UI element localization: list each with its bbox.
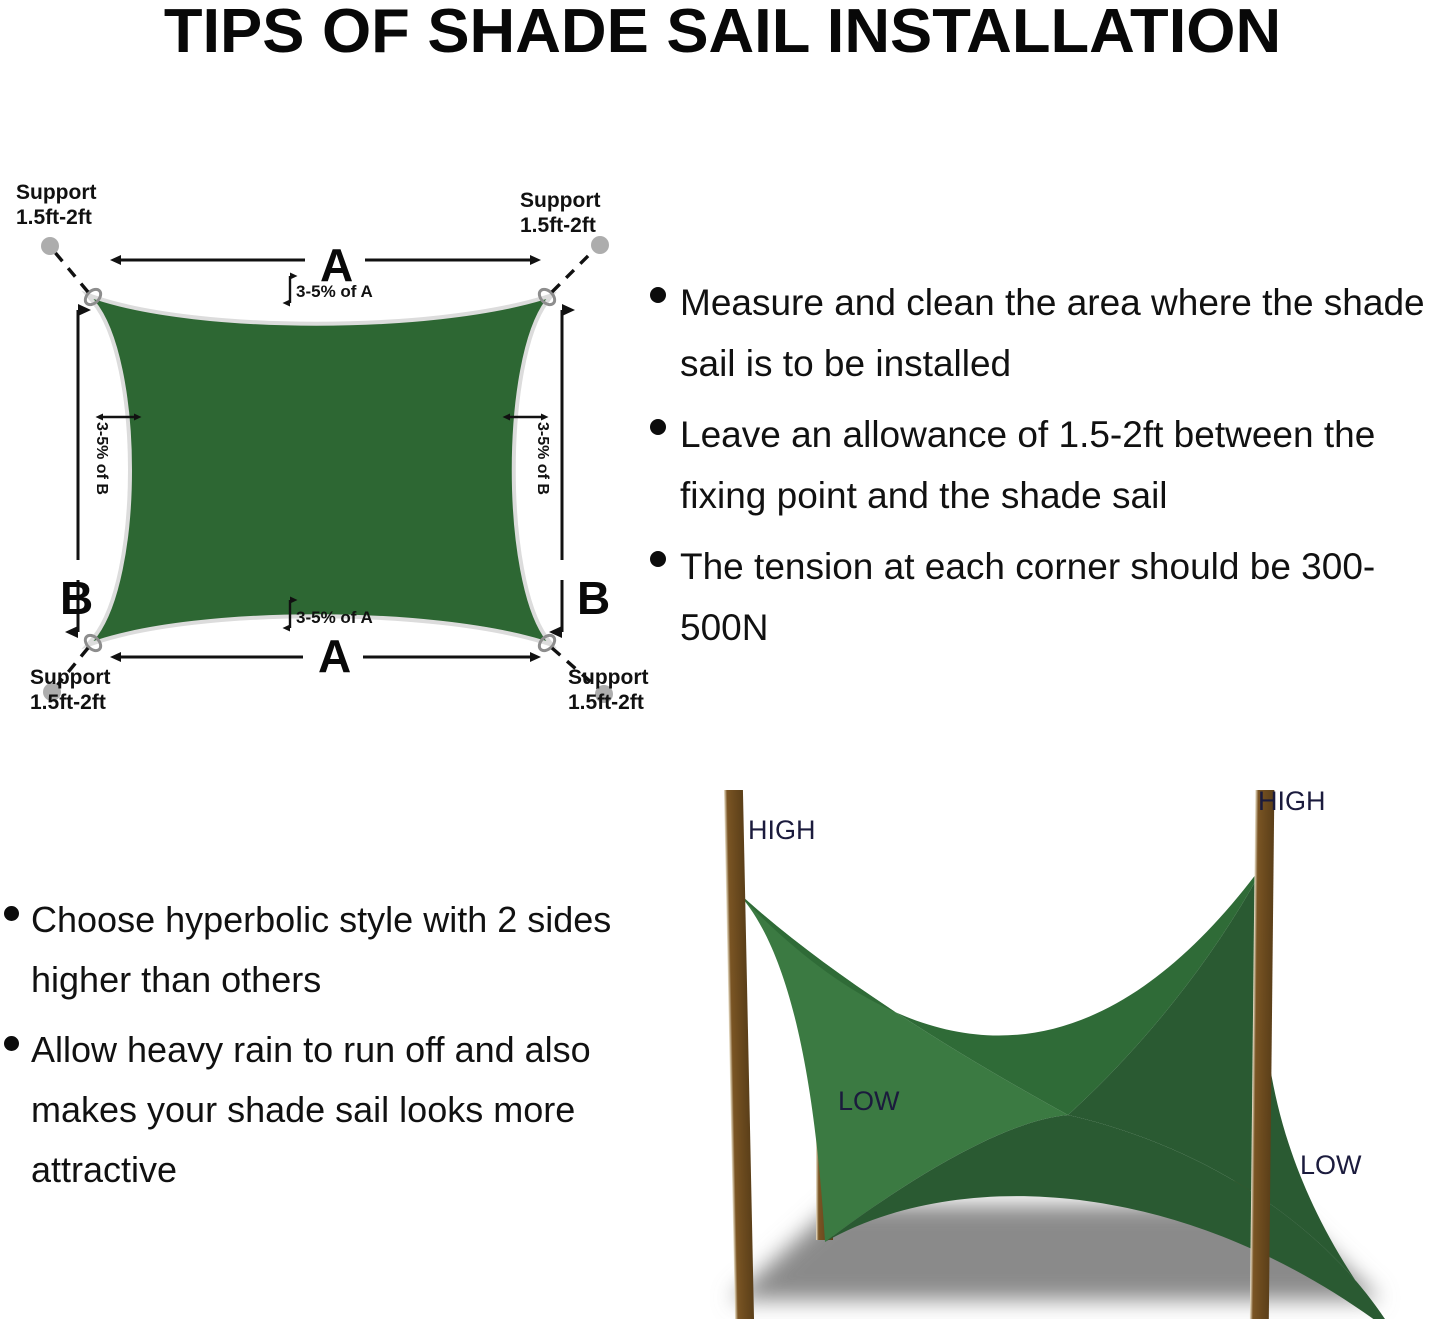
curve-allowance-right: 3-5% of B <box>533 422 551 495</box>
sail-shape-group <box>95 300 545 640</box>
list-item: Choose hyperbolic style with 2 sides hig… <box>4 890 624 1010</box>
support-label-line1: Support <box>16 180 96 205</box>
list-item-label: Measure and clean the area where the sha… <box>680 272 1445 394</box>
support-label-line2: 1.5ft-2ft <box>520 213 600 238</box>
page-title: TIPS OF SHADE SAIL INSTALLATION <box>0 0 1445 67</box>
corner-label-high-left: HIGH <box>748 815 816 846</box>
corner-label-low-left: LOW <box>838 1086 900 1117</box>
support-label-line2: 1.5ft-2ft <box>568 690 648 715</box>
support-label-bottom-right: Support 1.5ft-2ft <box>568 665 648 715</box>
support-label-top-right: Support 1.5ft-2ft <box>520 188 600 238</box>
curve-allowance-top: 3-5% of A <box>296 282 373 302</box>
corner-label-high-right: HIGH <box>1258 786 1326 817</box>
dimension-letter-b-left: B <box>60 575 93 621</box>
list-item: Allow heavy rain to run off and also mak… <box>4 1020 624 1200</box>
list-item-label: Choose hyperbolic style with 2 sides hig… <box>31 890 624 1010</box>
rectangular-sail-diagram: Support 1.5ft-2ft Support 1.5ft-2ft Supp… <box>0 160 660 730</box>
list-item: Measure and clean the area where the sha… <box>650 272 1445 394</box>
bullet-dot-icon <box>4 906 19 921</box>
bullet-dot-icon <box>650 551 666 567</box>
dimension-letter-b-right: B <box>577 575 610 621</box>
sail-scene-graphics <box>620 790 1445 1319</box>
list-item-label: Allow heavy rain to run off and also mak… <box>31 1020 624 1200</box>
support-label-bottom-left: Support 1.5ft-2ft <box>30 665 110 715</box>
bullet-dot-icon <box>650 287 666 303</box>
list-item-label: The tension at each corner should be 300… <box>680 536 1445 658</box>
list-item: The tension at each corner should be 300… <box>650 536 1445 658</box>
support-dot-top-right <box>591 236 609 254</box>
infographic-page: TIPS OF SHADE SAIL INSTALLATION <box>0 0 1445 1319</box>
list-item: Leave an allowance of 1.5-2ft between th… <box>650 404 1445 526</box>
bullet-dot-icon <box>650 419 666 435</box>
hyperbolic-sail-illustration: HIGH HIGH LOW LOW <box>620 790 1445 1319</box>
support-label-line2: 1.5ft-2ft <box>30 690 110 715</box>
curve-allowance-left: 3-5% of B <box>92 422 110 495</box>
bullet-dot-icon <box>4 1036 19 1051</box>
curve-allowance-bottom: 3-5% of A <box>296 608 373 628</box>
sail-fabric <box>95 300 545 640</box>
support-line-top-left <box>53 250 88 292</box>
dimension-letter-a-bottom: A <box>318 633 351 679</box>
support-label-line1: Support <box>568 665 648 690</box>
support-label-line1: Support <box>30 665 110 690</box>
post-high-left <box>724 790 757 1319</box>
installation-tips-list: Measure and clean the area where the sha… <box>650 272 1445 668</box>
support-label-line2: 1.5ft-2ft <box>16 205 96 230</box>
hyperbolic-style-tips-list: Choose hyperbolic style with 2 sides hig… <box>4 890 624 1210</box>
support-dot-top-left <box>41 237 59 255</box>
support-label-top-left: Support 1.5ft-2ft <box>16 180 96 230</box>
support-label-line1: Support <box>520 188 600 213</box>
corner-label-low-right: LOW <box>1300 1150 1362 1181</box>
support-line-top-right <box>552 248 596 292</box>
list-item-label: Leave an allowance of 1.5-2ft between th… <box>680 404 1445 526</box>
